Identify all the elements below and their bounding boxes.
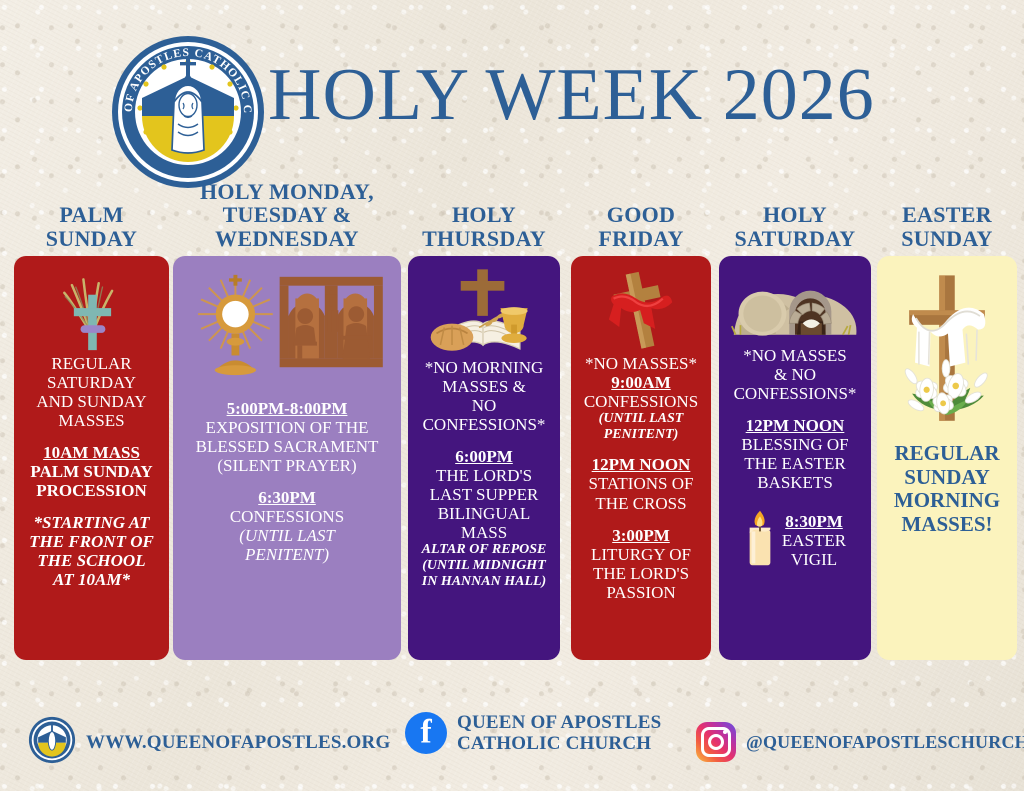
card-line: PALM SUNDAY bbox=[20, 462, 163, 481]
column-heading-palm-sunday: PALM SUNDAY bbox=[14, 176, 169, 254]
instagram-handle: @QUEENOFAPOSTLESCHURCH bbox=[746, 732, 1024, 752]
card-line: NO bbox=[414, 396, 554, 415]
card-line: (UNTIL LAST bbox=[577, 411, 705, 427]
line-spacer bbox=[725, 403, 865, 416]
easter-vigil-block: 8:30PM EASTER VIGIL bbox=[725, 508, 865, 573]
card-line: *STARTING AT bbox=[20, 513, 163, 532]
schedule-columns: PALM SUNDAY bbox=[0, 176, 1024, 666]
card-line: AND SUNDAY bbox=[20, 392, 163, 411]
card-easter-sunday: REGULARSUNDAYMORNINGMASSES! bbox=[877, 256, 1017, 660]
footer: WWW.QUEENOFAPOSTLES.ORG QUEEN OF APOSTLE… bbox=[0, 700, 1024, 780]
card-line: BILINGUAL bbox=[414, 504, 554, 523]
line-spacer bbox=[20, 430, 163, 443]
facebook-icon bbox=[405, 712, 447, 754]
card-line: CONFESSIONS* bbox=[725, 384, 865, 403]
easter-vigil-time: 8:30PM bbox=[782, 512, 846, 531]
footer-website[interactable]: WWW.QUEENOFAPOSTLES.ORG bbox=[28, 716, 390, 769]
card-line: (UNTIL LAST bbox=[179, 526, 395, 545]
card-line: STATIONS OF bbox=[577, 474, 705, 493]
monstrance-confessional-icon bbox=[181, 266, 393, 381]
card-line: 3:00PM bbox=[577, 526, 705, 545]
line-spacer bbox=[577, 442, 705, 455]
card-holy-saturday: *NO MASSES& NOCONFESSIONS*12PM NOONBLESS… bbox=[719, 256, 871, 660]
column-holy-thursday: HOLY THURSDAY bbox=[408, 176, 560, 254]
card-line: (SILENT PRAYER) bbox=[179, 456, 395, 475]
card-line: 6:00PM bbox=[414, 447, 554, 466]
card-line: 6:30PM bbox=[179, 488, 395, 507]
column-heading-holy-saturday: HOLY SATURDAY bbox=[719, 176, 871, 254]
card-line: THE EASTER bbox=[725, 454, 865, 473]
line-spacer bbox=[577, 513, 705, 526]
card-line: BLESSING OF bbox=[725, 435, 865, 454]
card-line: 12PM NOON bbox=[577, 455, 705, 474]
column-heading-easter-sunday: EASTER SUNDAY bbox=[877, 176, 1017, 254]
line-spacer bbox=[20, 500, 163, 513]
instagram-icon bbox=[696, 722, 736, 762]
card-line: *NO MASSES bbox=[725, 346, 865, 365]
card-line: THE LORD'S bbox=[414, 466, 554, 485]
card-line: PROCESSION bbox=[20, 481, 163, 500]
card-line: BASKETS bbox=[725, 473, 865, 492]
card-line: EXPOSITION OF THE bbox=[179, 418, 395, 437]
church-logo-small bbox=[28, 716, 76, 769]
easter-vigil-line2: VIGIL bbox=[782, 550, 846, 569]
card-line: LITURGY OF bbox=[577, 545, 705, 564]
column-holy-monday-tuesday-wednesday: HOLY MONDAY, TUESDAY & WEDNESDAY bbox=[173, 176, 401, 254]
card-line: MASSES bbox=[20, 411, 163, 430]
facebook-line2: CATHOLIC CHURCH bbox=[457, 733, 661, 754]
card-line: & NO bbox=[725, 365, 865, 384]
card-line: CONFESSIONS bbox=[179, 507, 395, 526]
line-spacer bbox=[179, 475, 395, 488]
card-body-holy-saturday: *NO MASSES& NOCONFESSIONS*12PM NOONBLESS… bbox=[725, 346, 865, 492]
card-holy-thursday: *NO MORNINGMASSES &NOCONFESSIONS*6:00PMT… bbox=[408, 256, 560, 660]
card-line: THE FRONT OF bbox=[20, 532, 163, 551]
column-easter-sunday: EASTER SUNDAY bbox=[877, 176, 1017, 254]
column-palm-sunday: PALM SUNDAY bbox=[14, 176, 169, 254]
card-line: SUNDAY bbox=[883, 466, 1011, 490]
card-line: THE LORD'S bbox=[577, 564, 705, 583]
palm-cross-icon bbox=[49, 266, 135, 354]
card-line: MASSES! bbox=[883, 513, 1011, 537]
church-logo: QUEEN OF APOSTLES CATHOLIC CHURCH ALEXAN… bbox=[108, 32, 268, 192]
card-line: (UNTIL MIDNIGHT bbox=[414, 558, 554, 574]
card-line: SATURDAY bbox=[20, 373, 163, 392]
card-line: REGULAR bbox=[20, 354, 163, 373]
empty-tomb-icon bbox=[728, 266, 862, 346]
card-holy-monday-tuesday-wednesday: 5:00PM-8:00PMEXPOSITION OF THEBLESSED SA… bbox=[173, 256, 401, 660]
card-line: THE SCHOOL bbox=[20, 551, 163, 570]
footer-instagram[interactable]: @QUEENOFAPOSTLESCHURCH bbox=[696, 722, 1024, 762]
column-heading-holy-monday-tuesday-wednesday: HOLY MONDAY, TUESDAY & WEDNESDAY bbox=[173, 176, 401, 254]
card-good-friday: *NO MASSES*9:00AMCONFESSIONS(UNTIL LASTP… bbox=[571, 256, 711, 660]
column-heading-good-friday: GOOD FRIDAY bbox=[571, 176, 711, 254]
card-line: THE CROSS bbox=[577, 494, 705, 513]
card-line: MASSES & bbox=[414, 377, 554, 396]
card-body-good-friday: *NO MASSES*9:00AMCONFESSIONS(UNTIL LASTP… bbox=[577, 354, 705, 602]
card-line: 5:00PM-8:00PM bbox=[179, 399, 395, 418]
card-line: CONFESSIONS bbox=[577, 392, 705, 411]
line-spacer bbox=[414, 434, 554, 447]
card-line: BLESSED SACRAMENT bbox=[179, 437, 395, 456]
easter-vigil-line1: EASTER bbox=[782, 531, 846, 550]
facebook-line1: QUEEN OF APOSTLES bbox=[457, 712, 661, 733]
card-body-easter-sunday: REGULARSUNDAYMORNINGMASSES! bbox=[883, 442, 1011, 536]
card-line: AT 10AM* bbox=[20, 570, 163, 589]
holy-week-flyer: QUEEN OF APOSTLES CATHOLIC CHURCH ALEXAN… bbox=[0, 0, 1024, 791]
card-line: 12PM NOON bbox=[725, 416, 865, 435]
card-line: *NO MASSES* bbox=[577, 354, 705, 373]
candle-icon bbox=[744, 508, 776, 573]
column-holy-saturday: HOLY SATURDAY bbox=[719, 176, 871, 254]
footer-facebook[interactable]: QUEEN OF APOSTLES CATHOLIC CHURCH bbox=[405, 712, 661, 755]
website-text: WWW.QUEENOFAPOSTLES.ORG bbox=[86, 732, 390, 753]
card-line: ALTAR OF REPOSE bbox=[414, 542, 554, 558]
card-line: PENITENT) bbox=[577, 427, 705, 443]
card-line: LAST SUPPER bbox=[414, 485, 554, 504]
header: QUEEN OF APOSTLES CATHOLIC CHURCH ALEXAN… bbox=[0, 10, 1024, 170]
card-line: MORNING bbox=[883, 489, 1011, 513]
column-good-friday: GOOD FRIDAY *NO MASSES*9:00AMCONFESSIONS… bbox=[571, 176, 711, 254]
cross-red-shroud-icon bbox=[589, 266, 693, 354]
card-line: CONFESSIONS* bbox=[414, 415, 554, 434]
bread-chalice-cross-icon bbox=[421, 266, 547, 358]
page-title: HOLY WEEK 2026 bbox=[268, 58, 888, 132]
card-line: PASSION bbox=[577, 583, 705, 602]
card-body-palm-sunday: REGULARSATURDAYAND SUNDAYMASSES10AM MASS… bbox=[20, 354, 163, 589]
card-line: IN HANNAN HALL) bbox=[414, 574, 554, 590]
card-line: *NO MORNING bbox=[414, 358, 554, 377]
card-line: 9:00AM bbox=[577, 373, 705, 392]
card-body-holy-thursday: *NO MORNINGMASSES &NOCONFESSIONS*6:00PMT… bbox=[414, 358, 554, 589]
draped-cross-lilies-icon bbox=[884, 266, 1010, 436]
column-heading-holy-thursday: HOLY THURSDAY bbox=[408, 176, 560, 254]
card-palm-sunday: REGULARSATURDAYAND SUNDAYMASSES10AM MASS… bbox=[14, 256, 169, 660]
card-line: PENITENT) bbox=[179, 545, 395, 564]
card-line: MASS bbox=[414, 523, 554, 542]
card-line: REGULAR bbox=[883, 442, 1011, 466]
card-body-holy-monday-tuesday-wednesday: 5:00PM-8:00PMEXPOSITION OF THEBLESSED SA… bbox=[179, 399, 395, 564]
card-line: 10AM MASS bbox=[20, 443, 163, 462]
